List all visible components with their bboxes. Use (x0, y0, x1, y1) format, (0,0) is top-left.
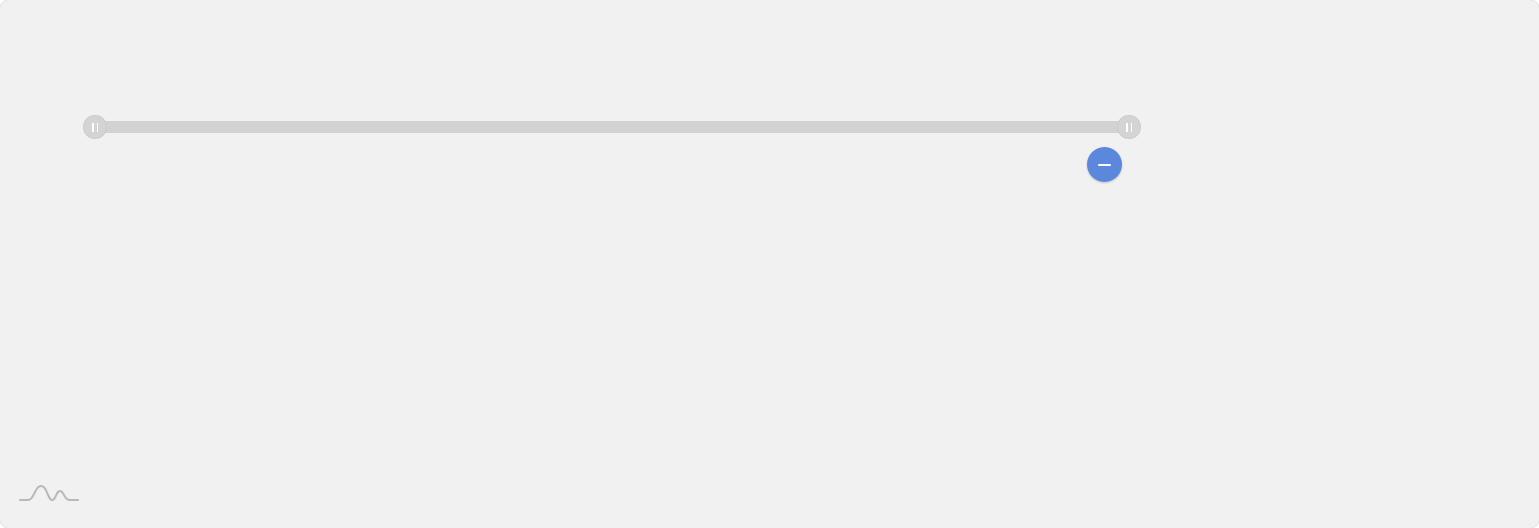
dashboard-panel (0, 0, 1539, 528)
y-axis-ticks (14, 130, 60, 440)
chart-area (0, 130, 1160, 490)
curve-logo (18, 480, 80, 506)
zoom-out-button[interactable] (1087, 147, 1122, 182)
area-chart-plot[interactable] (88, 130, 1134, 440)
minus-icon (1098, 164, 1111, 166)
